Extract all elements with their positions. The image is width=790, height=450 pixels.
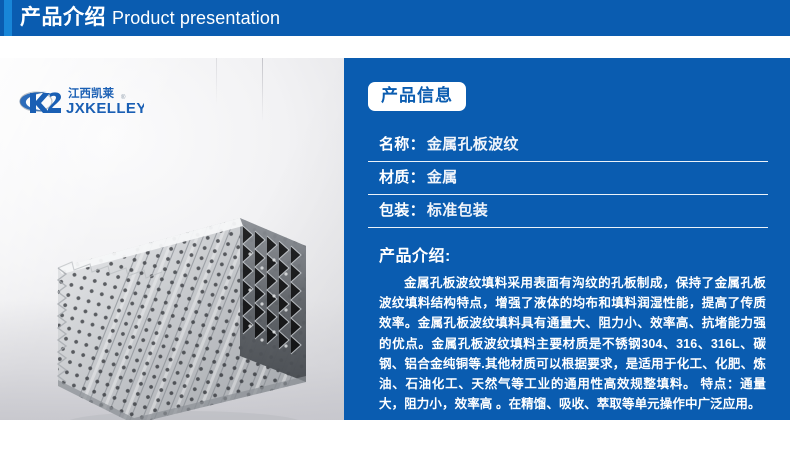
logo-brand-cn: 江西凯莱: [68, 86, 114, 100]
product-info-panel: 产品信息 名称： 金属孔板波纹 材质： 金属 包装： 标准包装 产品介绍: 金属…: [344, 58, 790, 420]
spec-label: 包装：: [379, 199, 425, 220]
page-header-bar: 产品介绍 Product presentation: [0, 0, 790, 36]
spec-row-packaging: 包装： 标准包装: [368, 195, 768, 228]
spec-label: 名称：: [379, 133, 425, 154]
page-title-cn: 产品介绍: [20, 0, 106, 36]
description-heading: 产品介绍:: [368, 242, 768, 266]
spec-row-material: 材质： 金属: [368, 162, 768, 195]
spec-value: 金属孔板波纹: [427, 133, 519, 154]
product-spec-list: 名称： 金属孔板波纹 材质： 金属 包装： 标准包装: [368, 129, 768, 228]
header-accent-bar: [4, 0, 12, 36]
spec-row-name: 名称： 金属孔板波纹: [368, 129, 768, 162]
product-image-panel: 江西凯莱 JXKELLEY ®: [0, 58, 344, 420]
image-backdrop-streak: [216, 58, 217, 106]
product-info-badge: 产品信息: [368, 82, 466, 111]
brand-logo: 江西凯莱 JXKELLEY ®: [16, 80, 144, 124]
spec-value: 标准包装: [427, 199, 488, 220]
page-title-en: Product presentation: [112, 0, 280, 36]
spec-label: 材质：: [379, 166, 425, 187]
logo-brand-en: JXKELLEY: [66, 100, 144, 117]
packing-end-face: [240, 218, 306, 382]
logo-k2-icon: [30, 92, 61, 113]
logo-registered-mark: ®: [121, 94, 126, 101]
image-backdrop-streak: [262, 58, 263, 122]
description-body: 金属孔板波纹填料采用表面有沟纹的孔板制成，保持了金属孔板波纹填料结构特点，增强了…: [368, 273, 768, 415]
product-photo: [44, 210, 324, 420]
page-title: 产品介绍 Product presentation: [20, 0, 280, 36]
spec-value: 金属: [427, 166, 458, 187]
